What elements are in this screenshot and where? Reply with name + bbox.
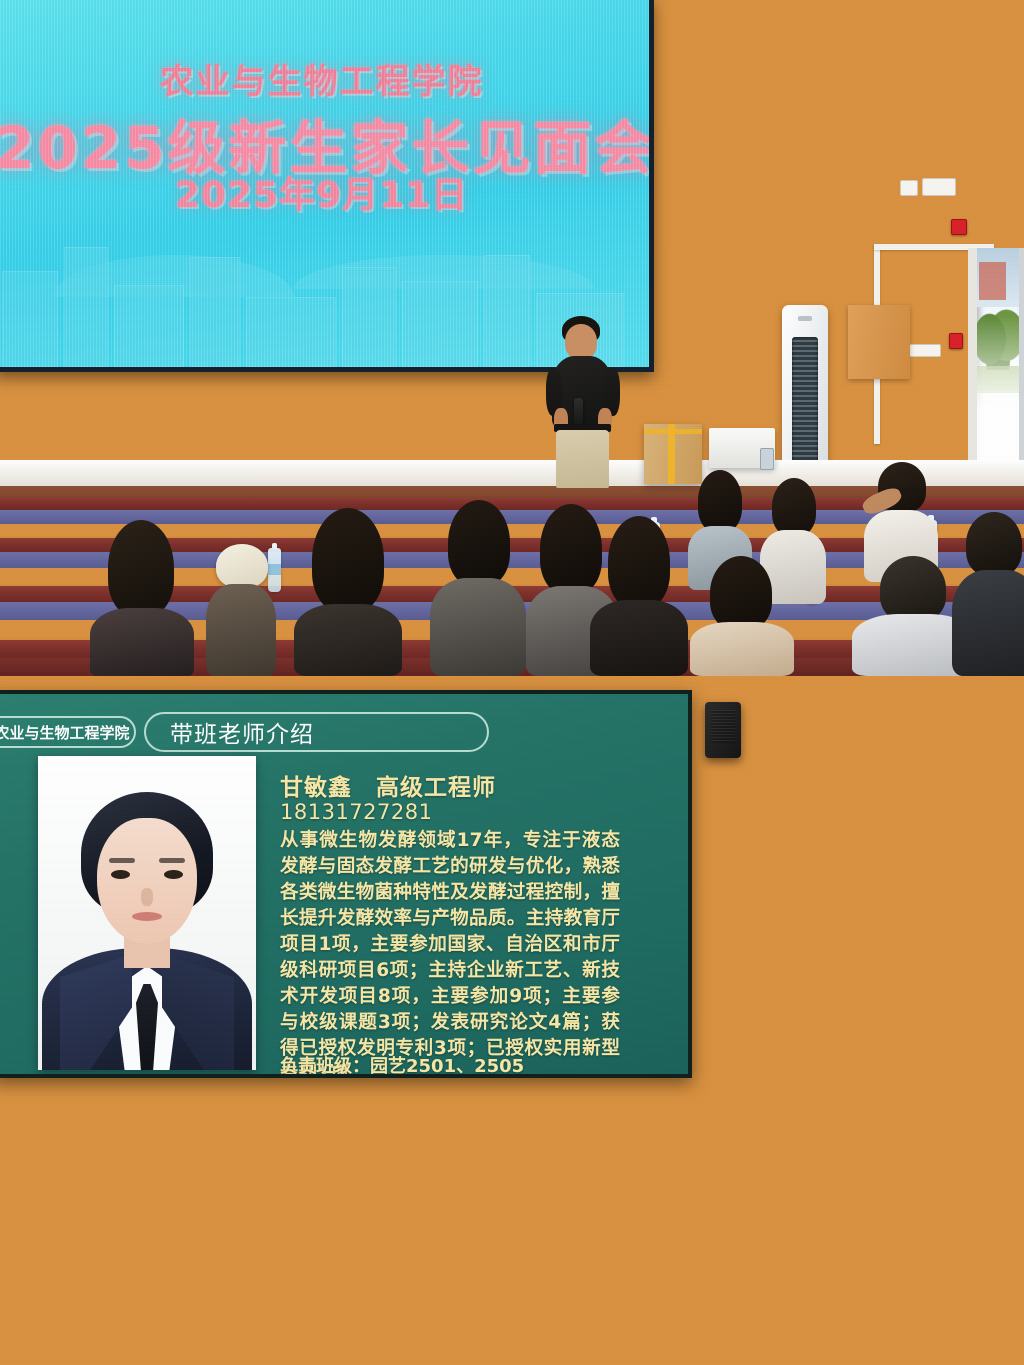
presenter-trousers	[556, 430, 609, 488]
presenter-head	[565, 324, 597, 360]
fire-alarm-box	[951, 219, 967, 235]
ac-logo	[798, 316, 813, 321]
teacher-classes: 负责班级：园艺2501、2505	[280, 1052, 524, 1078]
ac-vent	[792, 337, 818, 467]
screen-title-college: 农业与生物工程学院	[0, 54, 649, 103]
equipment-box	[760, 448, 774, 470]
screen-title-date: 2025年9月11日	[0, 166, 649, 218]
slide-tag-title: 带班老师介绍	[144, 712, 489, 752]
portrait-face	[97, 818, 197, 944]
daylight-glare	[977, 248, 1019, 474]
audience-person	[694, 556, 790, 676]
teacher-name: 甘敏鑫 高级工程师	[280, 768, 496, 802]
audience-person	[206, 540, 276, 676]
teacher-bio: 从事微生物发酵领域17年，专注于液态发酵与固态发酵工艺的研发与优化，熟悉各类微生…	[280, 828, 620, 1078]
presenter-person	[548, 316, 618, 484]
green-slide-screen: 农业与生物工程学院 带班老师介绍	[0, 690, 692, 1078]
air-conditioner-unit	[782, 305, 828, 480]
fire-alarm-box	[949, 333, 963, 349]
photo-composite: 农业与生物工程学院 2025级新生家长见面会 2025年9月11日	[0, 0, 1024, 1365]
slide-tag-college: 农业与生物工程学院	[0, 716, 136, 748]
teacher-phone: 18131727281	[280, 800, 432, 824]
wall-switch	[900, 180, 918, 196]
audience-person	[98, 520, 184, 676]
wall-access-panel	[848, 305, 910, 379]
audience-person	[956, 512, 1024, 676]
open-doorway	[968, 248, 1024, 474]
teacher-portrait	[38, 756, 256, 1070]
audience-person	[596, 516, 680, 676]
wall-switch	[909, 344, 941, 357]
audience-person	[300, 508, 396, 676]
top-photo: 农业与生物工程学院 2025级新生家长见面会 2025年9月11日	[0, 0, 1024, 676]
audience-person	[436, 500, 520, 676]
wall-speaker	[705, 702, 741, 758]
bottom-photo: 农业与生物工程学院 带班老师介绍	[0, 676, 1024, 1365]
wall-switch-panel	[922, 178, 956, 196]
